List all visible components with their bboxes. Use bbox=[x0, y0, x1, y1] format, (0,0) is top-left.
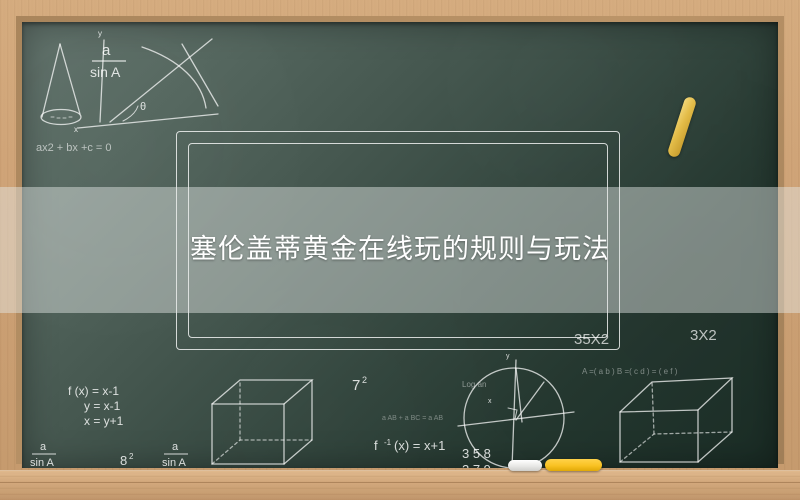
white-chalk-icon bbox=[508, 460, 542, 471]
page-title: 塞伦盖蒂黄金在线玩的规则与玩法 bbox=[190, 232, 610, 266]
chalk-tray-ledge bbox=[0, 470, 800, 500]
yellow-chalk-icon bbox=[545, 459, 602, 471]
chalkboard-banner: a sin A y x θ ax2 + bx +c = 0 f (x) = x-… bbox=[0, 0, 800, 500]
